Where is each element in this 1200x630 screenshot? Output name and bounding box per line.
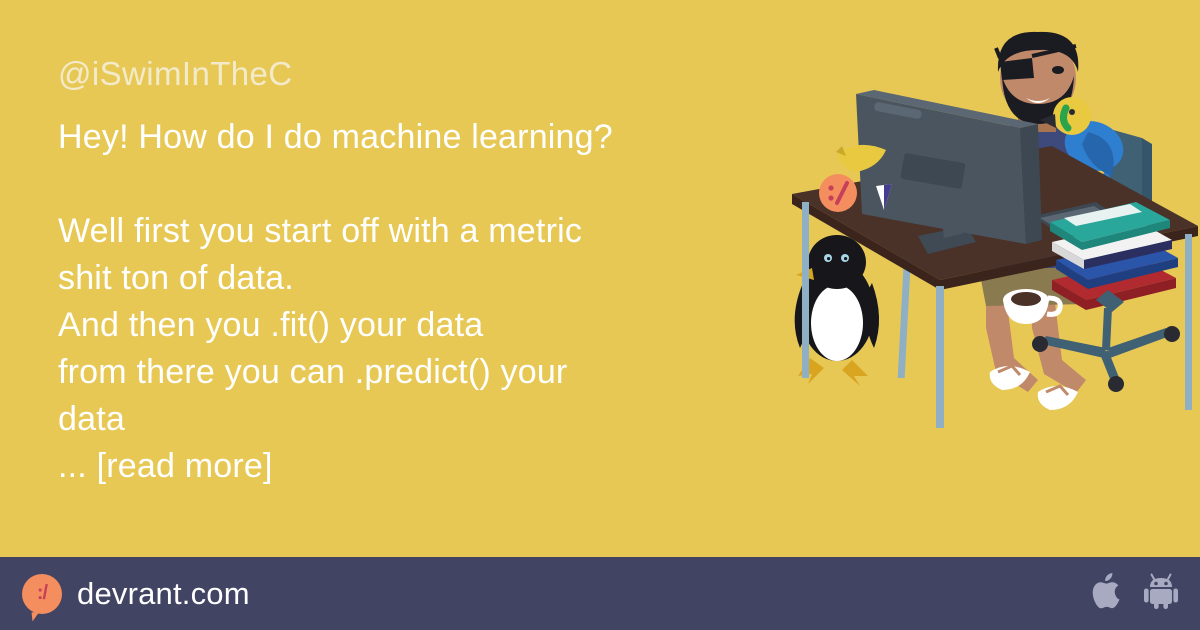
footer-bar: :/ devrant.com [0,557,1200,630]
rant-line-4: And then you .fit() your data [58,302,778,349]
username[interactable]: @iSwimInTheC [58,56,778,92]
devrant-ball [819,174,857,212]
rant-text-block: @iSwimInTheC Hey! How do I do machine le… [58,56,778,490]
read-more-link[interactable]: ... [read more] [58,443,778,490]
rant-line-2: Well first you start off with a metric [58,208,778,255]
book-stack [1050,202,1178,310]
brand-name: devrant.com [77,576,250,612]
rant-line-5: from there you can .predict() your [58,349,778,396]
store-icons [1092,573,1178,614]
devrant-social-card: @iSwimInTheC Hey! How do I do machine le… [0,0,1200,630]
apple-icon[interactable] [1092,573,1122,614]
rant-line-0: Hey! How do I do machine learning? [58,114,778,161]
rant-line-3: shit ton of data. [58,255,778,302]
brand-block[interactable]: :/ devrant.com [22,574,250,614]
devrant-logo-icon: :/ [22,574,62,614]
rant-line-6: data [58,396,778,443]
rant-body: Hey! How do I do machine learning? Well … [58,114,778,490]
devrant-logo-face: :/ [37,583,47,603]
developer-at-desk-illustration [790,28,1200,428]
android-icon[interactable] [1144,573,1178,614]
rant-line-1 [58,161,778,208]
